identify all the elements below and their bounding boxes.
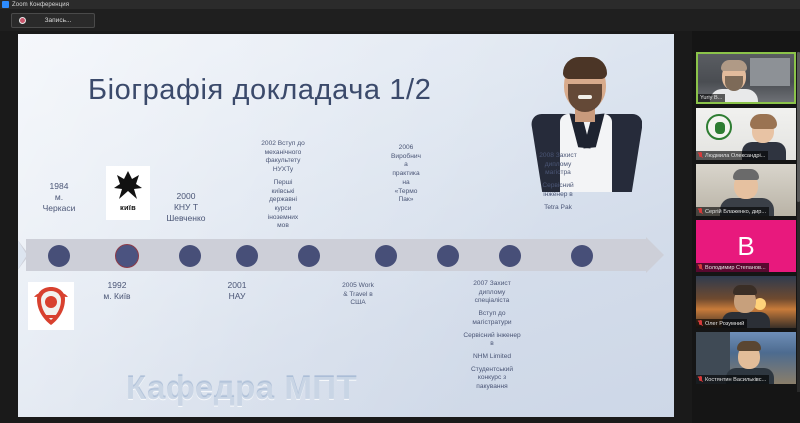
cherkasy-coat-of-arms [28, 282, 74, 330]
timeline-arrow-right [646, 237, 664, 273]
participant-name-badge: Сергій Блаженко, дир... [696, 207, 769, 216]
participant-tile[interactable]: Костянтин Васильківс... [696, 332, 796, 384]
timeline-line: факультету [240, 157, 326, 166]
participant-name-badge: Володимир Степанов... [696, 263, 769, 272]
timeline-line: 2000 [144, 191, 228, 202]
timeline-line: 1992 [80, 280, 154, 291]
timeline-dot-9 [571, 245, 593, 267]
timeline-line: 2006 [370, 144, 442, 153]
timeline-line: Шевченко [144, 213, 228, 224]
participant-filmstrip[interactable]: Yuriy B...Людмила Олександрі...Сергій Бл… [692, 31, 800, 423]
timeline-line: в [442, 340, 542, 349]
participant-tile[interactable]: ВВолодимир Степанов... [696, 220, 796, 272]
timeline-line: іноземних [240, 214, 326, 223]
chestnut-leaf-icon [113, 170, 143, 202]
recording-toolbar: Запись... [0, 9, 800, 31]
participant-name-badge: Людмила Олександрі... [696, 151, 768, 160]
timeline-line: 2007 Захист [442, 280, 542, 289]
timeline-line: НАУ [200, 291, 274, 302]
participant-tile[interactable]: Сергій Блаженко, дир... [696, 164, 796, 216]
participant-tile[interactable]: Олег Розумний [696, 276, 796, 328]
record-dot-icon [16, 15, 28, 27]
participant-name-badge: Костянтин Васильківс... [696, 375, 769, 384]
timeline-line: КНУ Т [144, 202, 228, 213]
timeline-line: 1984 [24, 181, 94, 192]
timeline-line: 2008 Захист [516, 152, 600, 161]
timeline-event-2005: 2005 Work& Travel вСША [318, 282, 398, 308]
timeline-line: київські [240, 188, 326, 197]
timeline-line: магістра [516, 169, 600, 178]
timeline-line: 2001 [200, 280, 274, 291]
window-titlebar: Zoom Конференция [0, 0, 800, 9]
timeline-dot-2 [115, 244, 139, 268]
participant-name: Yuriy B... [700, 95, 722, 101]
recording-label: Запись... [28, 17, 94, 24]
timeline-line: Виробнич [370, 153, 442, 162]
timeline-event-2008: 2008 ЗахистдипломумагістраСервіснийінжен… [516, 152, 600, 212]
timeline-line: Перші [240, 179, 326, 188]
participant-name: Людмила Олександрі... [705, 153, 765, 159]
participant-initial: В [737, 233, 754, 259]
timeline-line: Черкаси [24, 203, 94, 214]
timeline-event-2007: 2007 ЗахистдипломуспеціалістаВступ домаг… [442, 280, 542, 392]
timeline-event-2000: 2000КНУ ТШевченко [144, 191, 228, 225]
timeline-line: Tetra Pak [516, 204, 600, 213]
timeline-line: США [318, 299, 398, 308]
timeline-line: курси [240, 205, 326, 214]
participant-tile[interactable]: Yuriy B... [696, 52, 796, 104]
timeline-line: м. Київ [80, 291, 154, 302]
timeline-line: Вступ до [442, 310, 542, 319]
window-title: Zoom Конференция [12, 2, 69, 8]
timeline-line: м. [24, 192, 94, 203]
timeline-line: & Travel в [318, 291, 398, 300]
timeline-line: 2005 Work [318, 282, 398, 291]
timeline-dot-7 [437, 245, 459, 267]
presentation-slide: Біографія докладача 1/2 киї [18, 34, 674, 417]
mic-muted-icon [698, 264, 703, 271]
timeline-line: магістратури [442, 319, 542, 328]
timeline-event-2006: 2006Виробничапрактикана«ТермоПак» [370, 144, 442, 205]
participant-name: Володимир Степанов... [705, 265, 766, 271]
timeline-event-1984: 1984м.Черкаси [24, 181, 94, 215]
participant-name-badge: Yuriy B... [698, 94, 725, 102]
timeline-dot-5 [298, 245, 320, 267]
timeline-line: Пак» [370, 196, 442, 205]
participant-tile[interactable]: Людмила Олександрі... [696, 108, 796, 160]
timeline-event-1992: 1992м. Київ [80, 280, 154, 302]
kyiv-logo-text: київ [120, 203, 136, 212]
timeline-line: NHM Limited [442, 353, 542, 362]
timeline-line: мов [240, 222, 326, 231]
timeline-line: Сервісний інженер [442, 332, 542, 341]
timeline-line: пакування [442, 383, 542, 392]
timeline-dot-1 [48, 245, 70, 267]
mic-muted-icon [698, 208, 703, 215]
coat-of-arms-icon [31, 285, 71, 327]
timeline-event-2002: 2002 Вступ домеханічногофакультетуНУХТуП… [240, 140, 326, 231]
participant-name: Сергій Блаженко, дир... [705, 209, 766, 215]
timeline-line: конкурс з [442, 374, 542, 383]
timeline-dot-6 [375, 245, 397, 267]
timeline-line: 2002 Вступ до [240, 140, 326, 149]
zoom-meeting-window: Zoom Конференция Запись... Біографія док… [0, 0, 800, 423]
timeline-line: а [370, 161, 442, 170]
slide-watermark: Кафедра МПТ [126, 369, 357, 407]
mic-muted-icon [698, 376, 703, 383]
recording-button[interactable]: Запись... [11, 13, 95, 28]
timeline-event-2001: 2001НАУ [200, 280, 274, 302]
timeline-line: на [370, 179, 442, 188]
participant-name: Костянтин Васильківс... [705, 377, 766, 383]
participant-name-badge: Олег Розумний [696, 319, 747, 328]
shared-screen-stage[interactable]: Біографія докладача 1/2 киї [0, 31, 692, 423]
timeline-line: державні [240, 196, 326, 205]
timeline-line: спеціаліста [442, 297, 542, 306]
timeline-line: Сервісний [516, 182, 600, 191]
mic-muted-icon [698, 152, 703, 159]
timeline-dot-3 [179, 245, 201, 267]
page-title: Біографія докладача 1/2 [88, 74, 431, 107]
timeline-line: «Термо [370, 188, 442, 197]
participant-name: Олег Розумний [705, 321, 744, 327]
zoom-icon [2, 1, 9, 8]
timeline-line: практика [370, 170, 442, 179]
timeline-dot-8 [499, 245, 521, 267]
timeline-line: Студентський [442, 366, 542, 375]
timeline-line: інженер в [516, 191, 600, 200]
timeline-line: НУХТу [240, 166, 326, 175]
mic-muted-icon [698, 320, 703, 327]
timeline-line: механічного [240, 149, 326, 158]
timeline-dot-4 [236, 245, 258, 267]
